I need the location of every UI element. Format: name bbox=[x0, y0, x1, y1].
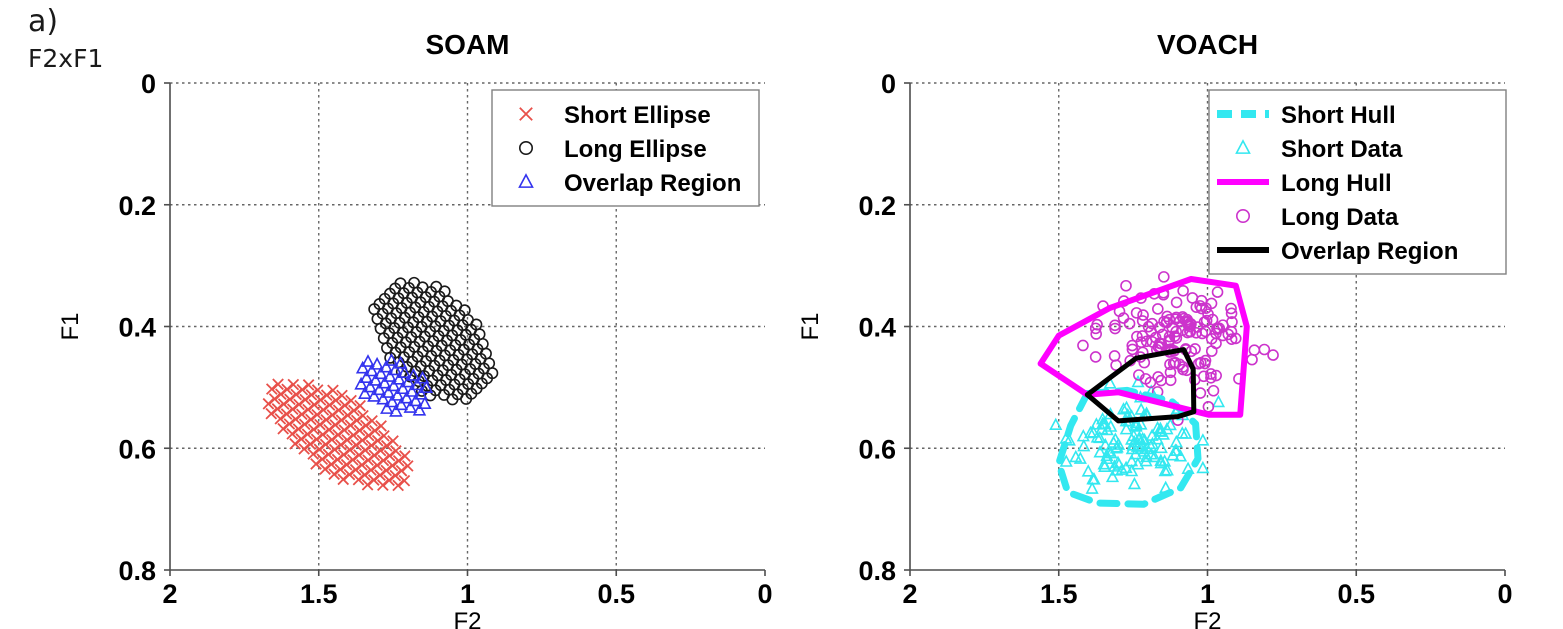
xtick-label: 0 bbox=[1497, 579, 1512, 609]
ytick-label: 0 bbox=[141, 69, 156, 99]
xtick-label: 2 bbox=[902, 579, 917, 609]
ytick-label: 0.2 bbox=[118, 191, 156, 221]
legend-voach[interactable]: Short HullShort DataLong HullLong DataOv… bbox=[1209, 90, 1506, 274]
xtick-label: 1.5 bbox=[300, 579, 338, 609]
ytick-label: 0.2 bbox=[858, 191, 896, 221]
xaxis-label-soam: F2 bbox=[453, 608, 481, 629]
xtick-label: 1 bbox=[460, 579, 475, 609]
plot-soam: SOAM21.510.5000.20.40.60.8F2F1Short Elli… bbox=[57, 29, 773, 629]
plot-title-soam: SOAM bbox=[426, 29, 510, 60]
ytick-label: 0.8 bbox=[858, 556, 896, 586]
legend-label: Overlap Region bbox=[1281, 238, 1458, 265]
xtick-label: 1 bbox=[1200, 579, 1215, 609]
legend-soam[interactable]: Short EllipseLong EllipseOverlap Region bbox=[492, 90, 759, 206]
legend-label: Short Ellipse bbox=[564, 102, 711, 129]
figure-root: a) F2xF1 SOAM21.510.5000.20.40.60.8F2F1S… bbox=[0, 0, 1563, 629]
legend-label: Overlap Region bbox=[564, 170, 741, 197]
legend-label: Long Ellipse bbox=[564, 136, 707, 163]
ytick-label: 0.4 bbox=[858, 313, 896, 343]
plot-voach: VOACH21.510.5000.20.40.60.8F2F1Short Hul… bbox=[797, 29, 1513, 629]
yaxis-label-soam: F1 bbox=[57, 312, 84, 340]
ytick-label: 0.4 bbox=[118, 313, 156, 343]
legend-label: Short Data bbox=[1281, 136, 1403, 163]
ytick-label: 0.8 bbox=[118, 556, 156, 586]
legend-label: Long Data bbox=[1281, 204, 1399, 231]
ytick-label: 0.6 bbox=[858, 434, 896, 464]
xtick-label: 2 bbox=[162, 579, 177, 609]
yaxis-label-voach: F1 bbox=[797, 312, 824, 340]
data-layer-soam bbox=[263, 278, 497, 491]
legend-label: Short Hull bbox=[1281, 102, 1396, 129]
ytick-label: 0 bbox=[881, 69, 896, 99]
xaxis-label-voach: F2 bbox=[1193, 608, 1221, 629]
xtick-label: 0 bbox=[757, 579, 772, 609]
plot-title-voach: VOACH bbox=[1157, 29, 1258, 60]
data-layer-voach bbox=[1041, 272, 1278, 504]
xtick-label: 0.5 bbox=[597, 579, 635, 609]
xtick-label: 1.5 bbox=[1040, 579, 1078, 609]
plots-canvas: SOAM21.510.5000.20.40.60.8F2F1Short Elli… bbox=[0, 0, 1563, 629]
ytick-label: 0.6 bbox=[118, 434, 156, 464]
series-short-ellipse bbox=[263, 379, 413, 491]
legend-label: Long Hull bbox=[1281, 170, 1392, 197]
xtick-label: 0.5 bbox=[1337, 579, 1375, 609]
